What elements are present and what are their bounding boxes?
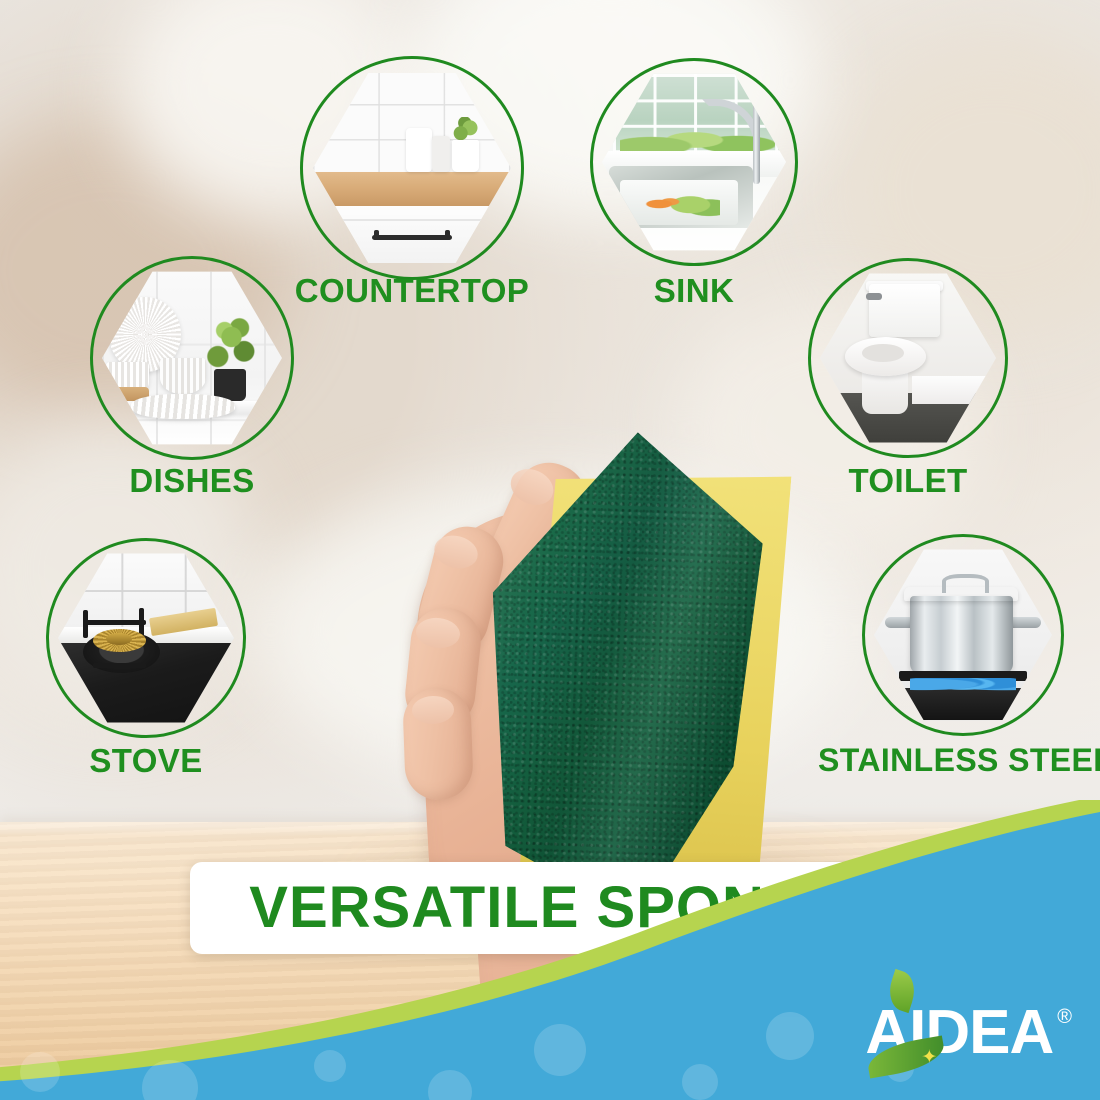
feature-label-toilet: TOILET <box>798 462 1018 500</box>
feature-label-countertop: COUNTERTOP <box>290 272 534 310</box>
feature-label-sink: SINK <box>584 272 804 310</box>
registered-trademark-icon: ® <box>1057 1006 1072 1029</box>
brand-logo[interactable]: ✦ AIDEA ® <box>865 1002 1072 1064</box>
feature-label-stove: STOVE <box>36 742 256 780</box>
feature-label-dishes: DISHES <box>82 462 302 500</box>
feature-label-stainless-steel: STAINLESS STEEL <box>818 742 1100 779</box>
sparkle-icon: ✦ <box>921 1048 937 1067</box>
product-infographic: COUNTERTOP SINK <box>0 0 1100 1100</box>
